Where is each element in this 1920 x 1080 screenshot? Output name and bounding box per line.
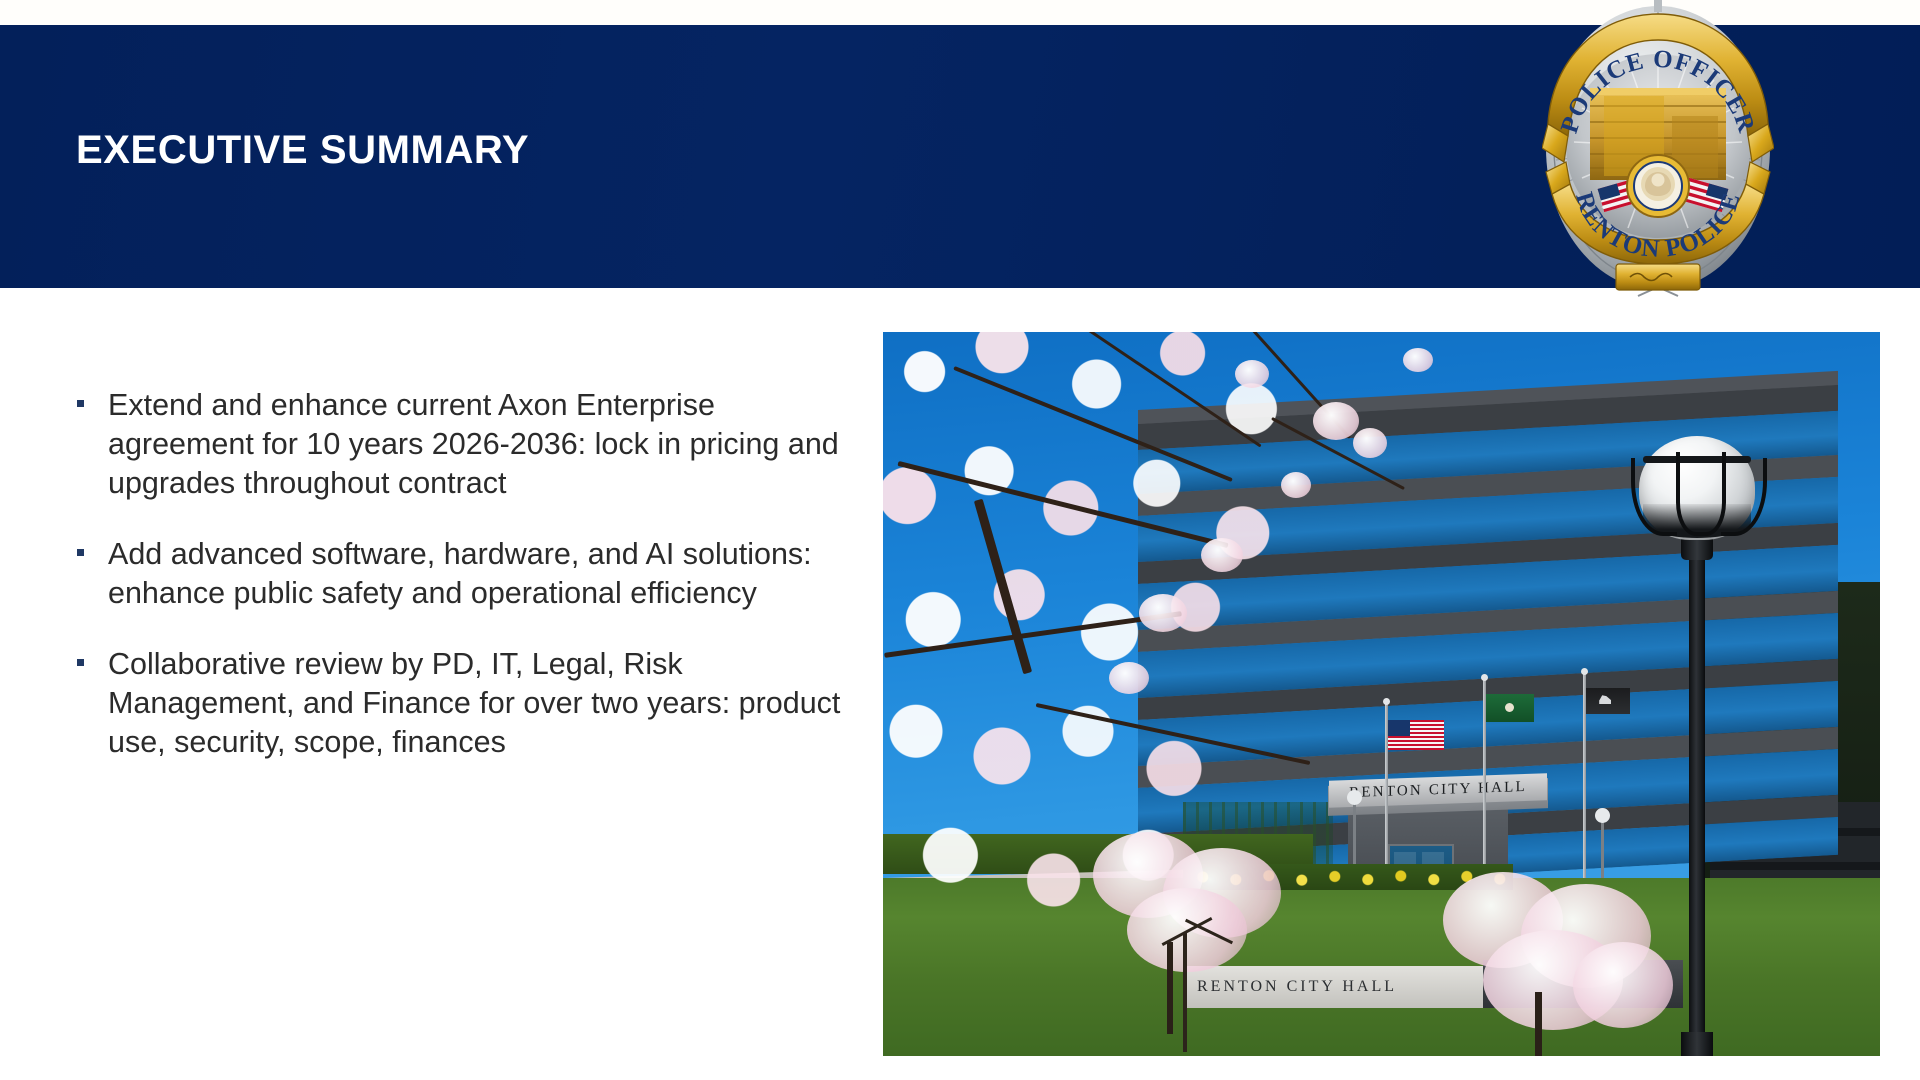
flag-emblem <box>1599 695 1611 704</box>
list-item: Collaborative review by PD, IT, Legal, R… <box>74 645 864 762</box>
path-light-globe <box>1595 808 1610 823</box>
pow-mia-flag-icon <box>1586 688 1630 714</box>
bullet-text: Add advanced software, hardware, and AI … <box>108 537 812 610</box>
united-states-flag-icon <box>1388 720 1444 750</box>
bullet-marker-icon <box>77 659 84 666</box>
badge-nameplate <box>1616 264 1700 290</box>
flagpole-finial <box>1481 674 1488 681</box>
washington-state-flag-icon <box>1486 694 1534 722</box>
bullet-marker-icon <box>77 549 84 556</box>
bullet-text: Extend and enhance current Axon Enterpri… <box>108 388 839 500</box>
flagpole-finial <box>1581 668 1588 675</box>
lamp-cage-arm <box>1676 452 1726 536</box>
flag-canton <box>1388 720 1410 736</box>
lamp-post-pole <box>1689 557 1705 1056</box>
list-item: Extend and enhance current Axon Enterpri… <box>74 386 864 503</box>
bullet-list: Extend and enhance current Axon Enterpri… <box>74 386 864 762</box>
building-sign-text: RENTON CITY HALL <box>1349 779 1527 802</box>
flag-seal <box>1505 703 1514 712</box>
young-tree <box>1183 932 1187 1052</box>
flagpole-finial <box>1383 698 1390 705</box>
list-item: Add advanced software, hardware, and AI … <box>74 535 864 613</box>
badge-state-seal-icon <box>1627 155 1689 217</box>
bullet-text: Collaborative review by PD, IT, Legal, R… <box>108 647 840 759</box>
page-title: EXECUTIVE SUMMARY <box>76 128 529 173</box>
path-light-globe <box>1347 790 1362 805</box>
cherry-tree-right <box>1443 872 1673 1056</box>
bullet-marker-icon <box>77 400 84 407</box>
renton-city-hall-photo: RENTON CITY HALL <box>883 332 1880 1056</box>
renton-police-badge-icon: POLICE OFFICER RENTON POLICE <box>1542 0 1774 304</box>
lamp-post-base <box>1681 1032 1713 1056</box>
